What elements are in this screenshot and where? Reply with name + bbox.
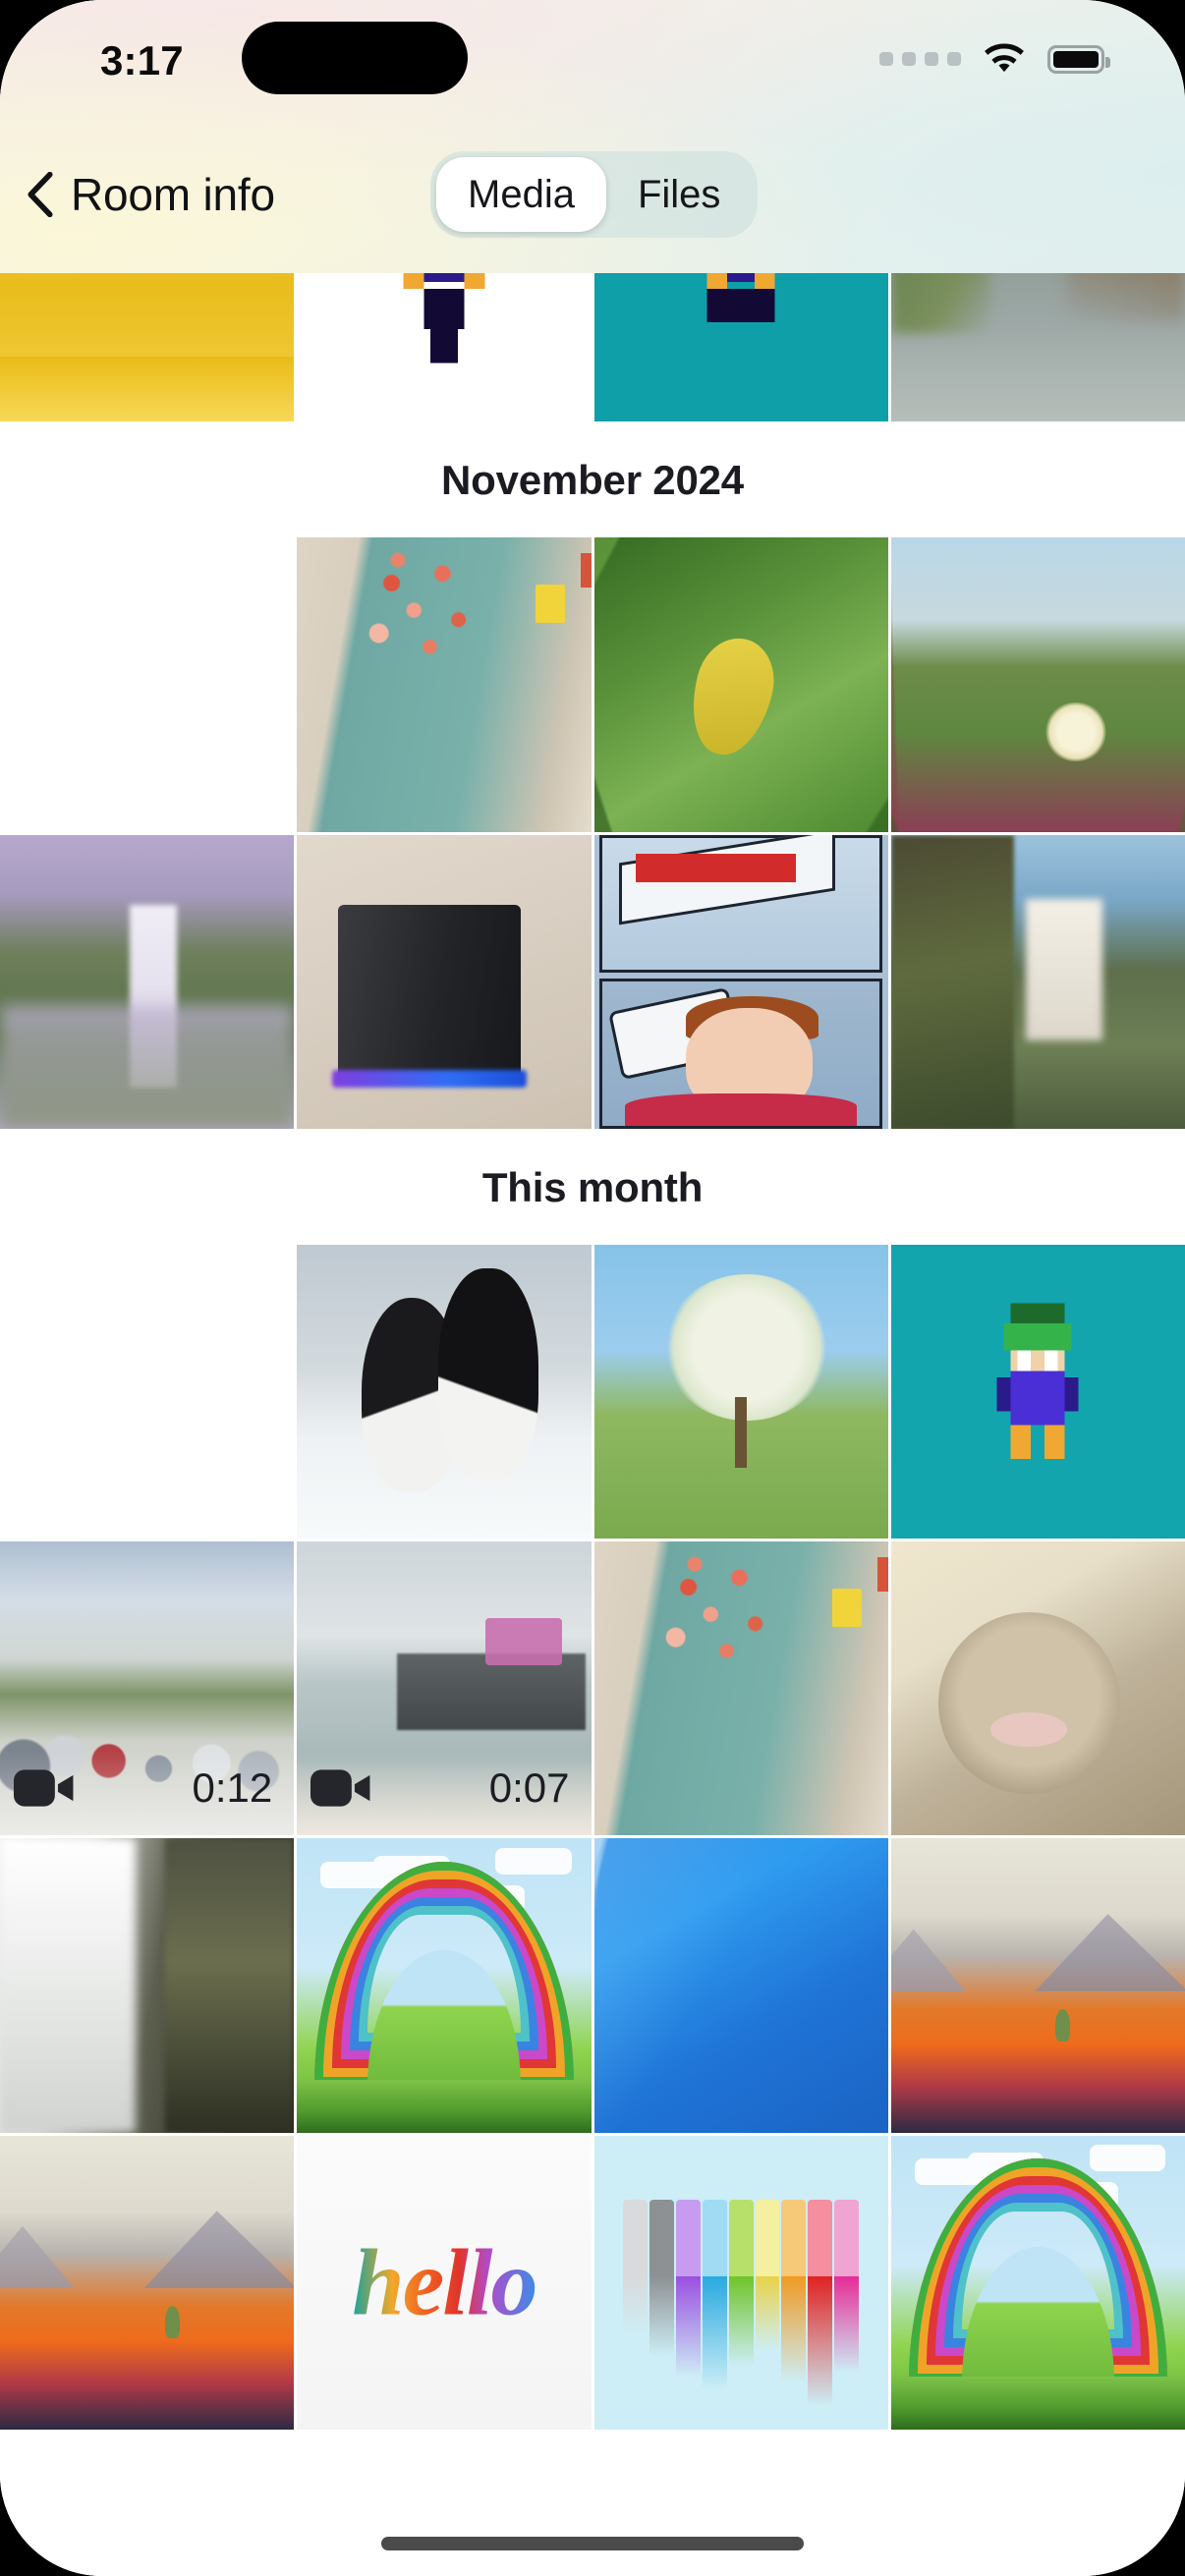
emperor-penguins-with-chick bbox=[297, 1245, 591, 1539]
battery-full-icon bbox=[1047, 45, 1104, 74]
status-bar-clock: 3:17 bbox=[100, 37, 184, 84]
media-thumbnail[interactable] bbox=[594, 1838, 888, 2132]
media-thumbnail[interactable] bbox=[297, 1838, 591, 2132]
media-thumbnail[interactable]: 0:12 bbox=[0, 1541, 294, 1835]
river-with-boats-photo bbox=[891, 273, 1185, 421]
video-badge: 0:07 bbox=[297, 1751, 591, 1835]
media-thumbnail[interactable] bbox=[297, 273, 591, 421]
yellow-leaf-on-green-branch bbox=[594, 537, 888, 831]
purple-sky-waterfall bbox=[0, 835, 294, 1129]
media-thumbnail[interactable] bbox=[594, 2136, 888, 2430]
phone-screen: 3:17 Room info bbox=[0, 0, 1185, 2576]
media-thumbnail[interactable] bbox=[297, 835, 591, 1129]
pixel-sprite-icon bbox=[376, 273, 512, 389]
empty-grid-slot bbox=[0, 1245, 294, 1539]
media-grid-november-2024 bbox=[0, 537, 1185, 1129]
status-bar-indicators bbox=[879, 43, 1104, 75]
back-button-label: Room info bbox=[71, 168, 275, 221]
media-thumbnail[interactable] bbox=[891, 1838, 1185, 2132]
media-thumbnail[interactable] bbox=[594, 273, 888, 421]
tab-media[interactable]: Media bbox=[436, 157, 606, 232]
black-and-white-waterfall bbox=[0, 1838, 294, 2132]
flower-covered-teal-door bbox=[594, 1541, 888, 1835]
dripping-markers-artwork bbox=[594, 2136, 888, 2430]
pixel-rainbow-landscape bbox=[297, 1838, 591, 2132]
media-thumbnail[interactable] bbox=[594, 537, 888, 831]
section-header-november-2024: November 2024 bbox=[0, 421, 1185, 537]
bottom-safe-area bbox=[0, 2462, 1185, 2576]
sweating-man-button-meme bbox=[594, 835, 888, 1129]
media-grid-partial-top bbox=[0, 273, 1185, 421]
media-thumbnail[interactable] bbox=[891, 273, 1185, 421]
flower-covered-teal-door bbox=[297, 537, 591, 831]
media-thumbnail[interactable]: 0:07 bbox=[297, 1541, 591, 1835]
media-scroll-area[interactable]: November 2024This month 0:12 0:07hello bbox=[0, 273, 1185, 2576]
pixel-character-icon bbox=[971, 1277, 1106, 1506]
home-indicator[interactable] bbox=[381, 2537, 804, 2550]
video-badge: 0:12 bbox=[0, 1751, 294, 1835]
chevron-left-icon bbox=[26, 172, 55, 217]
blossoming-tree-in-field bbox=[594, 1245, 888, 1539]
media-thumbnail[interactable] bbox=[891, 1245, 1185, 1539]
media-thumbnail[interactable] bbox=[0, 1838, 294, 2132]
signal-dots-icon bbox=[879, 52, 961, 66]
media-thumbnail[interactable] bbox=[891, 835, 1185, 1129]
blue-pixel-sprite-white-bg bbox=[297, 273, 591, 421]
blue-abstract-wallpaper bbox=[594, 1838, 888, 2132]
video-camera-icon bbox=[14, 1766, 75, 1810]
video-duration: 0:07 bbox=[489, 1764, 570, 1812]
media-thumbnail[interactable]: hello bbox=[297, 2136, 591, 2430]
blue-pixel-sprite-teal-bg bbox=[594, 273, 888, 421]
hello-script-lettering: hello bbox=[297, 2136, 591, 2430]
tab-files[interactable]: Files bbox=[606, 157, 752, 232]
media-grid-this-month: 0:12 0:07hello bbox=[0, 1245, 1185, 2430]
media-thumbnail[interactable] bbox=[594, 1541, 888, 1835]
media-thumbnail[interactable] bbox=[891, 1541, 1185, 1835]
media-thumbnail[interactable] bbox=[891, 2136, 1185, 2430]
media-thumbnail[interactable] bbox=[594, 835, 888, 1129]
wifi-icon bbox=[983, 43, 1026, 75]
dynamic-island bbox=[242, 22, 468, 94]
mossy-cliff-waterfall bbox=[891, 835, 1185, 1129]
navigation-bar: Room info Media Files bbox=[0, 116, 1185, 273]
media-thumbnail[interactable] bbox=[0, 835, 294, 1129]
video-duration: 0:12 bbox=[193, 1764, 273, 1812]
media-thumbnail[interactable] bbox=[594, 1245, 888, 1539]
media-thumbnail[interactable] bbox=[0, 2136, 294, 2430]
pixel-rainbow-landscape bbox=[891, 2136, 1185, 2430]
video-camera-icon bbox=[310, 1766, 371, 1810]
black-pc-tower-with-rgb bbox=[297, 835, 591, 1129]
white-beach-flower-in-grass bbox=[891, 537, 1185, 831]
section-header-this-month: This month bbox=[0, 1129, 1185, 1245]
green-hair-pixel-character bbox=[891, 1245, 1185, 1539]
media-thumbnail[interactable] bbox=[297, 537, 591, 831]
pixel-sprite-icon bbox=[673, 273, 809, 389]
sleeping-kitten bbox=[891, 1541, 1185, 1835]
back-button[interactable]: Room info bbox=[26, 168, 275, 221]
media-thumbnail[interactable] bbox=[0, 273, 294, 421]
media-files-segmented-control[interactable]: Media Files bbox=[430, 151, 758, 238]
media-thumbnail[interactable] bbox=[297, 1245, 591, 1539]
media-thumbnail[interactable] bbox=[891, 537, 1185, 831]
empty-grid-slot bbox=[0, 537, 294, 831]
phone-frame: 3:17 Room info bbox=[0, 0, 1185, 2576]
status-bar: 3:17 bbox=[0, 0, 1185, 116]
lone-tree-sunset-gradient bbox=[0, 2136, 294, 2430]
yellow-pixel-chest bbox=[0, 273, 294, 421]
lone-tree-sunset-gradient bbox=[891, 1838, 1185, 2132]
